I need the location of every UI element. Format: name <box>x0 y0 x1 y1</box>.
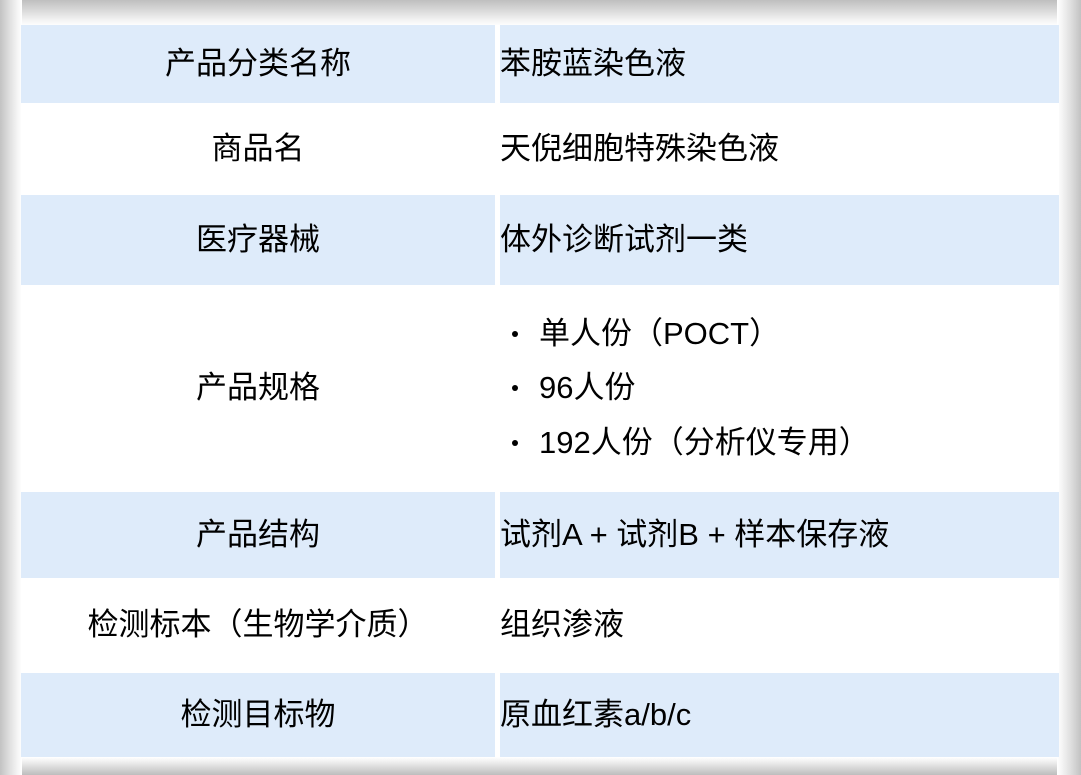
row-value-test-target: 原血红素a/b/c <box>500 673 1059 757</box>
page-edge-shadow-bottom <box>0 757 1081 775</box>
product-spec-table-container: 产品分类名称 苯胺蓝染色液 商品名 天倪细胞特殊染色液 医疗器械 体外诊断试剂一… <box>21 25 1059 757</box>
specification-list: 单人份（POCT） 96人份 192人份（分析仪专用） <box>507 314 1059 463</box>
page-edge-shadow-top <box>0 0 1081 26</box>
row-value-product-structure: 试剂A + 试剂B + 样本保存液 <box>500 492 1059 578</box>
row-label-trade-name: 商品名 <box>21 103 495 195</box>
page-edge-shadow-left <box>0 0 22 775</box>
list-item: 96人份 <box>507 368 1059 408</box>
table-row: 检测标本（生物学介质） 组织渗液 <box>21 578 1059 673</box>
list-item: 192人份（分析仪专用） <box>507 423 1059 463</box>
row-value-trade-name: 天倪细胞特殊染色液 <box>500 103 1059 195</box>
table-row: 产品结构 试剂A + 试剂B + 样本保存液 <box>21 492 1059 578</box>
row-label-test-target: 检测目标物 <box>21 673 495 757</box>
row-label-product-category-name: 产品分类名称 <box>21 25 495 103</box>
page-root: 产品分类名称 苯胺蓝染色液 商品名 天倪细胞特殊染色液 医疗器械 体外诊断试剂一… <box>0 0 1081 775</box>
row-label-test-specimen: 检测标本（生物学介质） <box>21 578 495 673</box>
table-row: 产品分类名称 苯胺蓝染色液 <box>21 25 1059 103</box>
page-edge-shadow-right <box>1057 0 1081 775</box>
table-row: 检测目标物 原血红素a/b/c <box>21 673 1059 757</box>
row-value-medical-device: 体外诊断试剂一类 <box>500 195 1059 285</box>
row-label-product-specification: 产品规格 <box>21 285 495 492</box>
row-value-test-specimen: 组织渗液 <box>500 578 1059 673</box>
list-item-label: 192人份（分析仪专用） <box>539 425 870 460</box>
table-row: 医疗器械 体外诊断试剂一类 <box>21 195 1059 285</box>
bullet-dot-icon <box>512 440 518 446</box>
list-item: 单人份（POCT） <box>507 314 1059 354</box>
list-item-label: 96人份 <box>539 370 635 405</box>
bullet-dot-icon <box>512 331 518 337</box>
bullet-dot-icon <box>512 385 518 391</box>
row-label-product-structure: 产品结构 <box>21 492 495 578</box>
row-value-product-category-name: 苯胺蓝染色液 <box>500 25 1059 103</box>
row-value-product-specification: 单人份（POCT） 96人份 192人份（分析仪专用） <box>500 285 1059 492</box>
table-row: 商品名 天倪细胞特殊染色液 <box>21 103 1059 195</box>
product-spec-table: 产品分类名称 苯胺蓝染色液 商品名 天倪细胞特殊染色液 医疗器械 体外诊断试剂一… <box>21 25 1059 757</box>
list-item-label: 单人份（POCT） <box>539 316 780 351</box>
table-row: 产品规格 单人份（POCT） 96人份 <box>21 285 1059 492</box>
row-label-medical-device: 医疗器械 <box>21 195 495 285</box>
specification-bullet-wrap: 单人份（POCT） 96人份 192人份（分析仪专用） <box>500 314 1059 463</box>
